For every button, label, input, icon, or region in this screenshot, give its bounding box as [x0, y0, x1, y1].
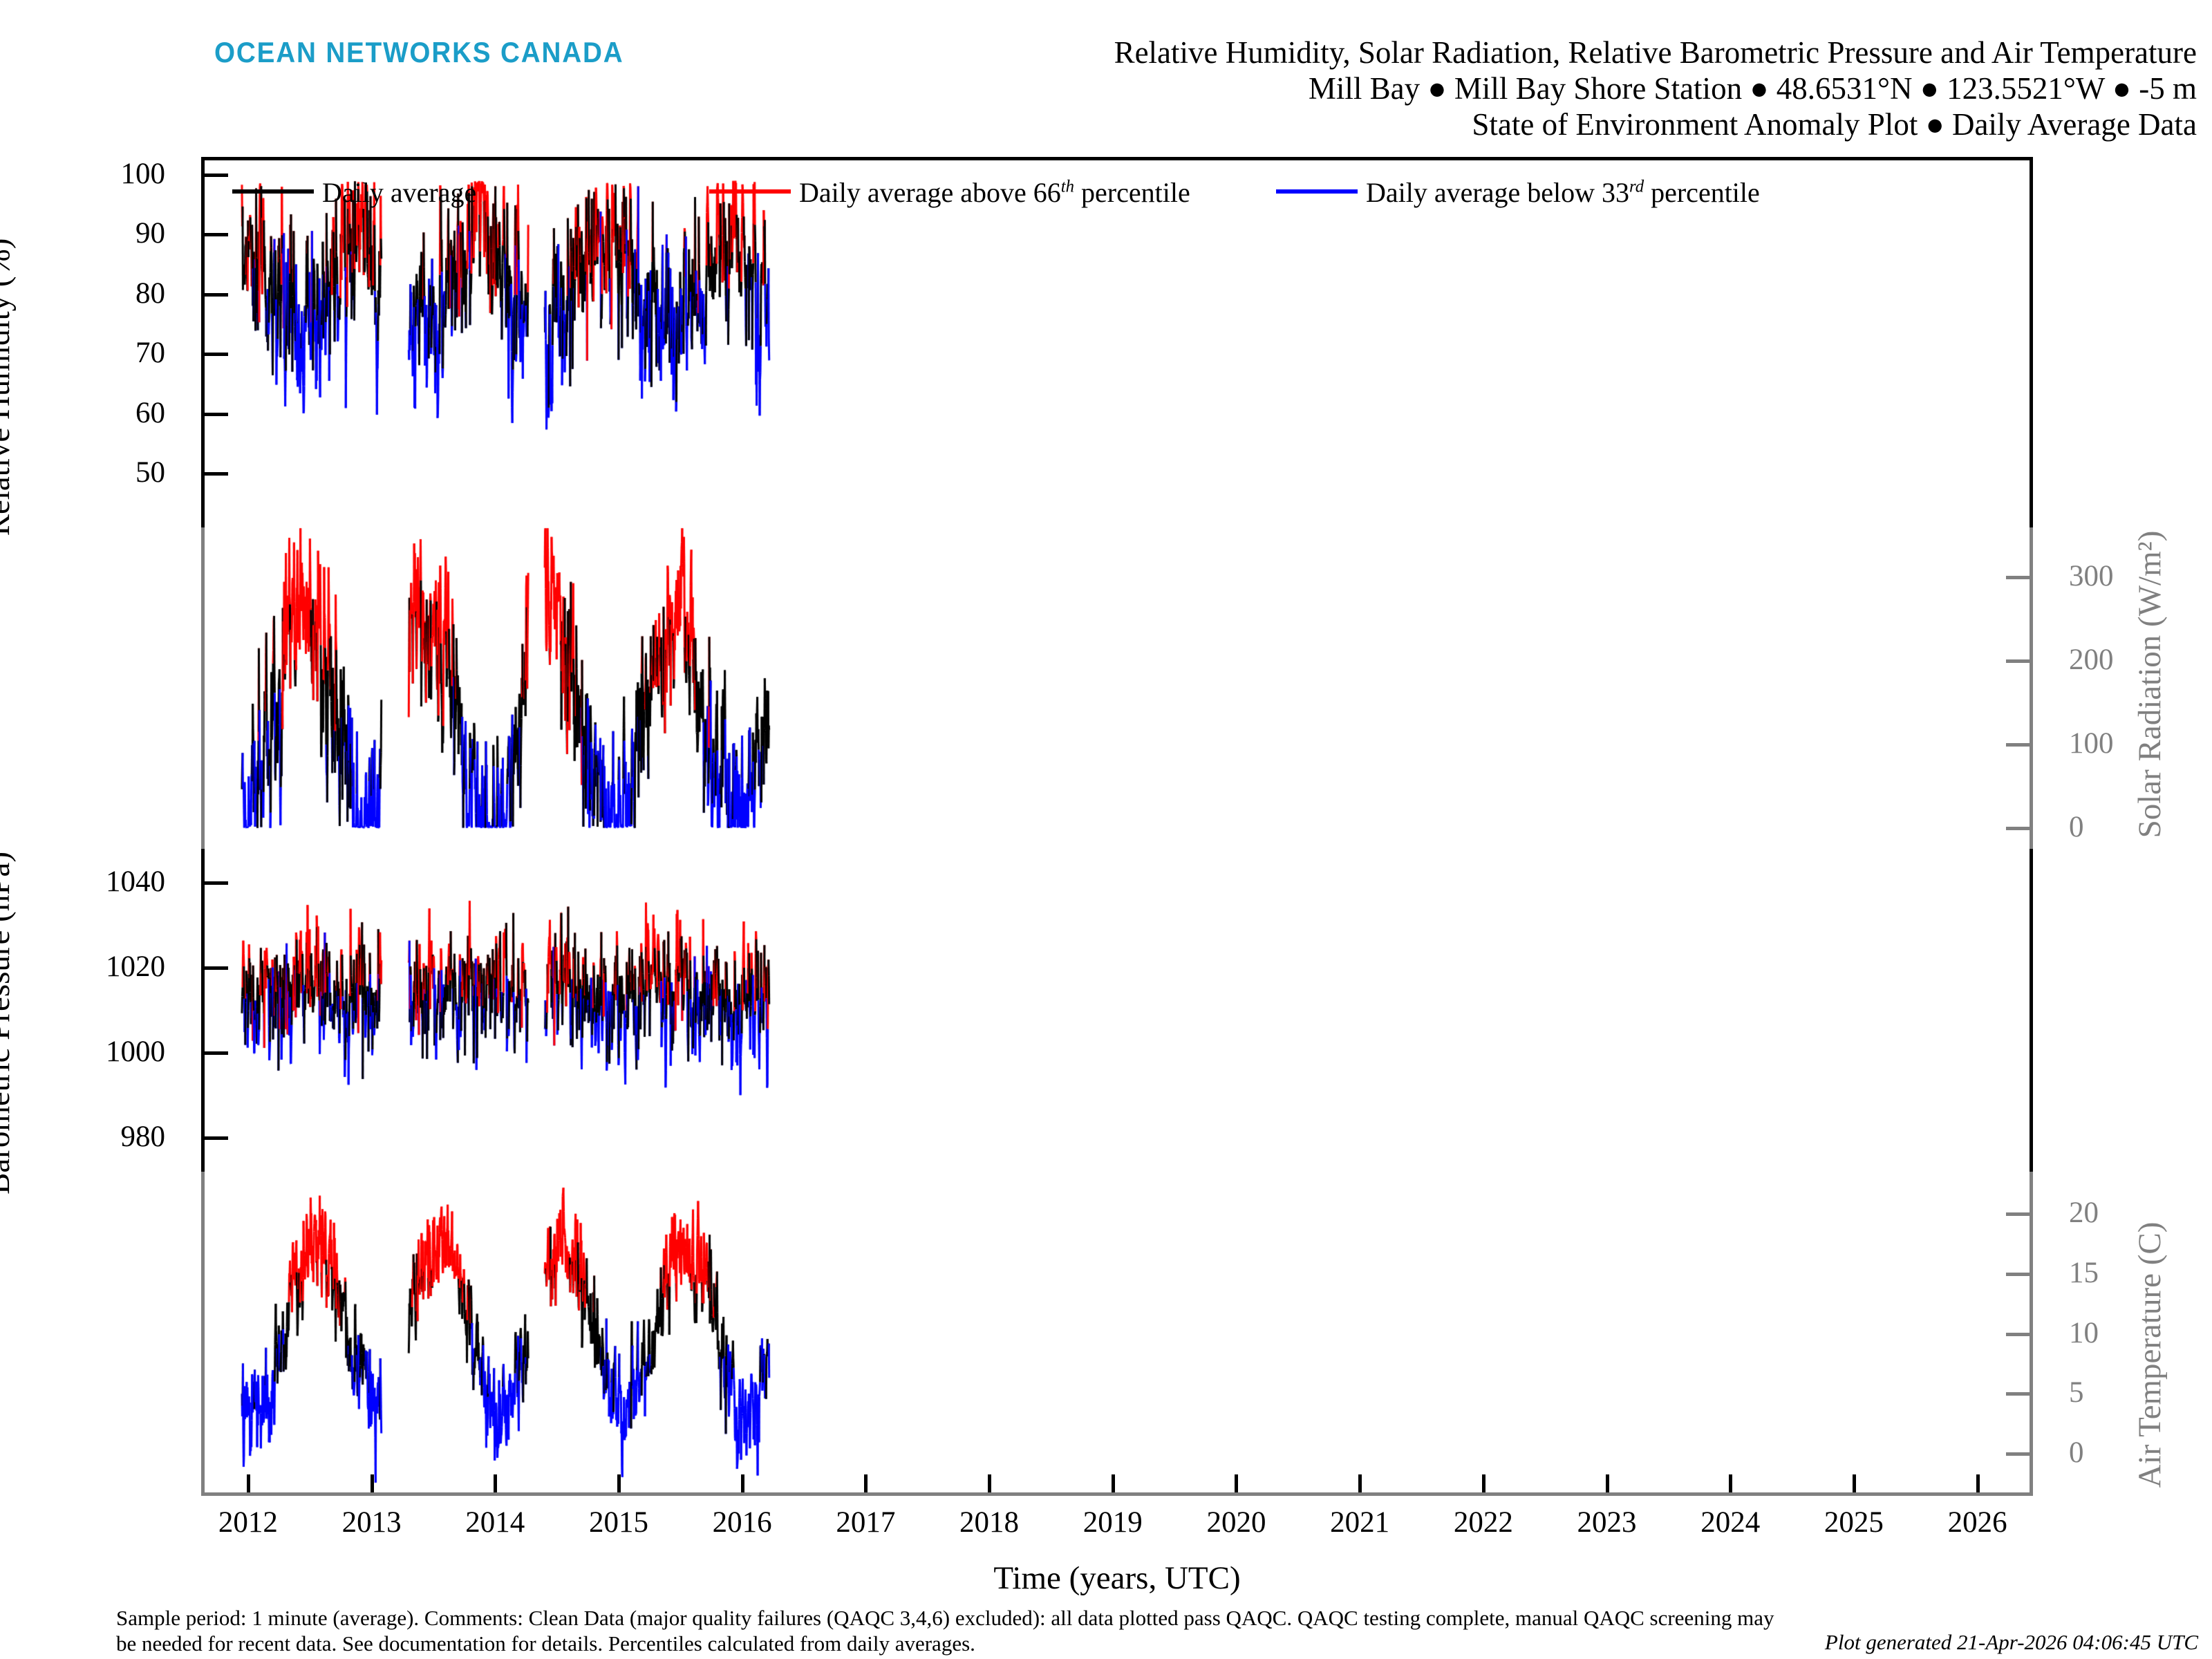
- y-axis-title-solar: Solar Radiation (W/m²): [2131, 531, 2168, 838]
- y-axis-tick: [205, 353, 228, 356]
- y-axis-tick-label: 980: [121, 1120, 166, 1154]
- legend-item-0: Daily average: [232, 176, 476, 209]
- y-axis-title-humidity: Relative Humidity (%): [0, 238, 17, 536]
- x-axis-tick-label: 2022: [1454, 1506, 1513, 1539]
- x-axis-tick: [371, 1474, 374, 1492]
- y-axis-tick-label: 0: [2069, 810, 2084, 844]
- legend-swatch-icon: [232, 189, 314, 194]
- y-axis-tick: [2006, 1333, 2030, 1336]
- x-axis-tick-label: 2019: [1083, 1506, 1143, 1539]
- x-axis-tick-label: 2012: [218, 1506, 278, 1539]
- y-axis-tick-label: 80: [135, 276, 165, 310]
- brand-logo-text: OCEAN NETWORKS CANADA: [214, 36, 624, 69]
- x-axis-tick: [1853, 1474, 1856, 1492]
- y-axis-tick: [205, 233, 228, 236]
- panel-frame-right: [2030, 1172, 2033, 1496]
- legend-item-label: Daily average: [322, 177, 476, 208]
- x-axis-tick: [741, 1474, 744, 1492]
- panel-frame-left: [201, 527, 205, 849]
- x-axis-tick-label: 2024: [1700, 1506, 1760, 1539]
- x-axis-tick: [1358, 1474, 1362, 1492]
- x-axis-tick-label: 2016: [713, 1506, 772, 1539]
- footer-note: Sample period: 1 minute (average). Comme…: [116, 1605, 1789, 1656]
- title-line-3: State of Environment Anomaly Plot ● Dail…: [1114, 106, 2197, 142]
- x-axis-tick-label: 2020: [1206, 1506, 1266, 1539]
- panel-frame-bottom: [201, 1492, 2033, 1496]
- y-axis-tick: [2006, 743, 2030, 747]
- x-axis-tick: [988, 1474, 991, 1492]
- x-axis-tick-label: 2017: [836, 1506, 895, 1539]
- x-axis-tick: [617, 1474, 621, 1492]
- panel-solar-radiation: 0100200300: [201, 527, 2033, 849]
- plot-title: Relative Humidity, Solar Radiation, Rela…: [1114, 35, 2197, 142]
- y-axis-tick: [205, 881, 228, 885]
- x-axis-title: Time (years, UTC): [201, 1559, 2033, 1597]
- y-axis-tick: [2006, 576, 2030, 579]
- x-axis-tick: [1235, 1474, 1238, 1492]
- x-axis-tick-label: 2018: [959, 1506, 1019, 1539]
- y-axis-tick: [2006, 1212, 2030, 1216]
- y-axis-tick-label: 300: [2069, 559, 2114, 593]
- x-axis-tick: [1976, 1474, 1980, 1492]
- x-axis-tick-label: 2013: [342, 1506, 402, 1539]
- y-axis-title-pressure: Barometric Pressure (hPa): [0, 852, 17, 1194]
- y-axis-tick: [205, 966, 228, 970]
- panel-frame-right: [2030, 849, 2033, 1172]
- x-axis-tick-label: 2023: [1577, 1506, 1637, 1539]
- panel-frame-right: [2030, 527, 2033, 849]
- title-line-2: Mill Bay ● Mill Bay Shore Station ● 48.6…: [1114, 71, 2197, 106]
- x-axis-tick-label: 2021: [1330, 1506, 1389, 1539]
- x-axis-tick: [1112, 1474, 1115, 1492]
- y-axis-tick-label: 50: [135, 456, 165, 489]
- y-axis-tick-label: 200: [2069, 643, 2114, 677]
- x-axis-tick: [1606, 1474, 1609, 1492]
- x-axis-tick: [1482, 1474, 1485, 1492]
- y-axis-tick: [205, 413, 228, 416]
- y-axis-tick-label: 15: [2069, 1256, 2099, 1290]
- y-axis-tick-label: 1020: [106, 950, 165, 984]
- legend-swatch-icon: [709, 189, 791, 194]
- y-axis-tick-label: 20: [2069, 1196, 2099, 1230]
- panel-frame-left: [201, 849, 205, 1172]
- x-axis-tick: [247, 1474, 250, 1492]
- panel-barometric-pressure: 980100010201040: [201, 849, 2033, 1172]
- y-axis-tick-label: 10: [2069, 1316, 2099, 1350]
- y-axis-tick-label: 1000: [106, 1035, 165, 1069]
- legend-item-2: Daily average below 33rd percentile: [1276, 176, 1760, 209]
- plot-area: 5060708090100 0100200300 980100010201040…: [201, 157, 2033, 1496]
- y-axis-tick-label: 1040: [106, 865, 165, 899]
- panel-air-temperature: 05101520: [201, 1172, 2033, 1496]
- x-axis-tick-label: 2025: [1824, 1506, 1884, 1539]
- y-axis-tick: [2006, 827, 2030, 830]
- y-axis-tick-label: 5: [2069, 1376, 2084, 1409]
- x-axis-tick-label: 2026: [1948, 1506, 2007, 1539]
- y-axis-tick: [2006, 1452, 2030, 1456]
- y-axis-tick-label: 100: [121, 157, 166, 191]
- y-axis-tick: [205, 293, 228, 297]
- y-axis-tick: [205, 472, 228, 476]
- legend: Daily averageDaily average above 66th pe…: [201, 176, 2033, 215]
- x-axis-tick: [494, 1474, 497, 1492]
- legend-item-label: Daily average below 33rd percentile: [1366, 177, 1760, 208]
- y-axis-tick-label: 70: [135, 336, 165, 370]
- y-axis-title-temperature: Air Temperature (C): [2131, 1222, 2168, 1488]
- title-line-1: Relative Humidity, Solar Radiation, Rela…: [1114, 35, 2197, 71]
- x-axis-tick-label: 2014: [465, 1506, 525, 1539]
- y-axis-tick: [2006, 1273, 2030, 1276]
- legend-item-label: Daily average above 66th percentile: [799, 177, 1190, 208]
- x-axis-tick: [864, 1474, 868, 1492]
- y-axis-tick-label: 60: [135, 396, 165, 430]
- generated-timestamp: Plot generated 21-Apr-2026 04:06:45 UTC: [1825, 1630, 2198, 1655]
- y-axis-tick-label: 100: [2069, 727, 2114, 760]
- y-axis-tick: [2006, 1392, 2030, 1396]
- x-axis-tick-label: 2015: [589, 1506, 648, 1539]
- y-axis-tick-label: 90: [135, 216, 165, 250]
- x-axis-tick-labels: 2012201320142015201620172018201920202021…: [201, 1506, 2033, 1540]
- y-axis-tick: [205, 1136, 228, 1140]
- y-axis-tick: [2006, 659, 2030, 663]
- legend-swatch-icon: [1276, 189, 1358, 194]
- panel-frame-left: [201, 1172, 205, 1496]
- y-axis-tick: [205, 1051, 228, 1055]
- legend-item-1: Daily average above 66th percentile: [709, 176, 1190, 209]
- x-axis-tick: [1729, 1474, 1732, 1492]
- panel-frame-top: [201, 157, 2033, 160]
- y-axis-tick-label: 0: [2069, 1436, 2084, 1470]
